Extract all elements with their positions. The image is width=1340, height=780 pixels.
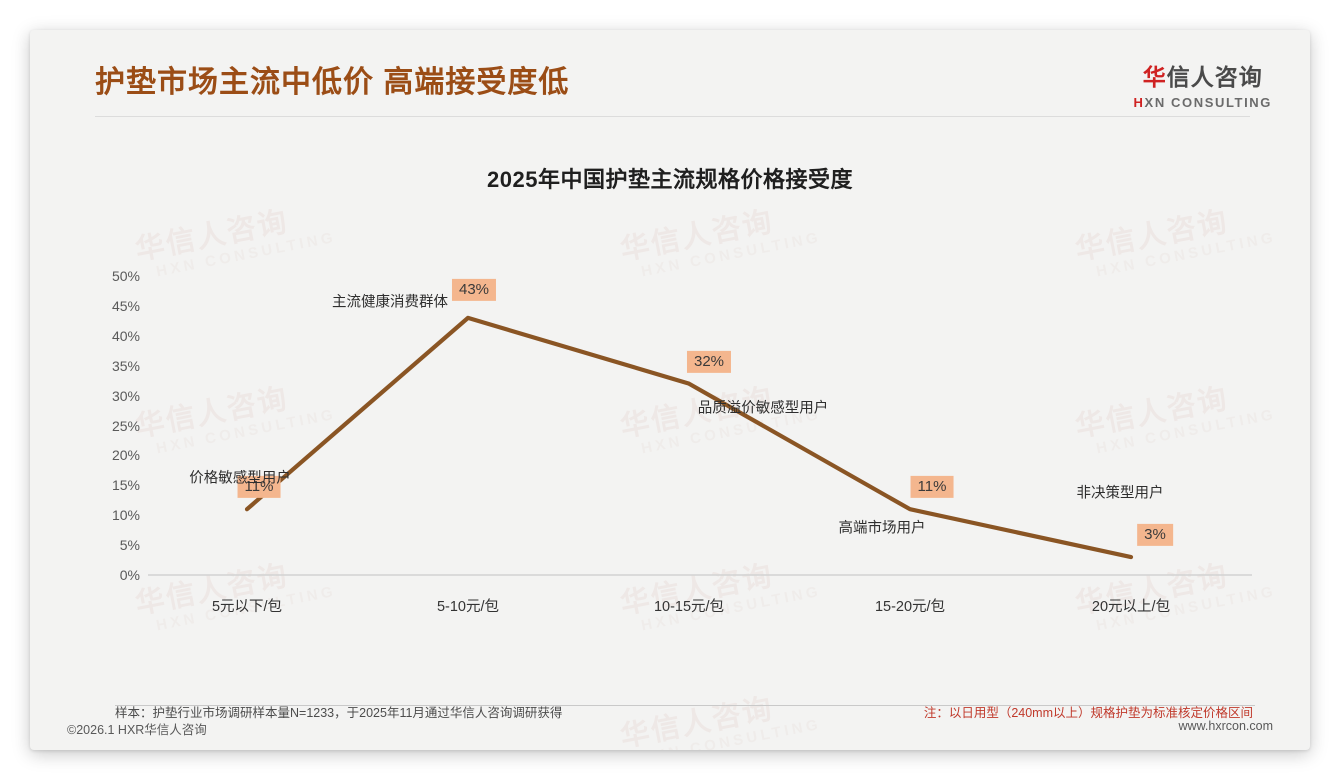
chart-annotation: 高端市场用户 (839, 517, 926, 538)
y-axis-tick: 50% (88, 268, 140, 284)
y-axis-tick: 25% (88, 418, 140, 434)
chart-svg (30, 30, 1310, 750)
brand-logo: 华信人咨询 HXN CONSULTING (1134, 58, 1272, 110)
data-label: 11% (911, 476, 954, 498)
data-label: 43% (452, 279, 496, 301)
chart-annotation: 主流健康消费群体 (332, 291, 448, 312)
y-axis-tick: 0% (88, 567, 140, 583)
logo-cn-rest: 信人咨询 (1167, 64, 1263, 90)
logo-en-red: H (1134, 95, 1145, 110)
website-link[interactable]: www.hxrcon.com (1179, 719, 1273, 733)
x-axis-tick: 15-20元/包 (875, 595, 945, 616)
chart-annotation: 非决策型用户 (1077, 482, 1164, 503)
logo-en-rest: XN CONSULTING (1145, 95, 1272, 110)
logo-en-text: HXN CONSULTING (1134, 95, 1272, 110)
data-label: 32% (687, 351, 731, 373)
chart-title: 2025年中国护垫主流规格价格接受度 (30, 162, 1310, 194)
y-axis-tick: 10% (88, 507, 140, 523)
data-label: 3% (1137, 524, 1173, 546)
chart-annotation: 品质溢价敏感型用户 (698, 397, 829, 418)
y-axis-tick: 45% (88, 298, 140, 314)
y-axis-tick: 35% (88, 358, 140, 374)
chart-annotation: 价格敏感型用户 (189, 467, 291, 488)
bottom-bar: ©2026.1 HXR华信人咨询 www.hxrcon.com (30, 706, 1310, 750)
y-axis-tick: 5% (88, 537, 140, 553)
x-axis-tick: 5-10元/包 (437, 595, 499, 616)
logo-cn-red: 华 (1143, 64, 1167, 90)
header-divider (95, 116, 1250, 117)
copyright-text: ©2026.1 HXR华信人咨询 (67, 719, 207, 738)
slide-header: 护垫市场主流中低价 高端接受度低 华信人咨询 HXN CONSULTING (30, 30, 1310, 120)
slide-card: 华信人咨询 HXN CONSULTING 华信人咨询 HXN CONSULTIN… (30, 30, 1310, 750)
y-axis-tick: 30% (88, 388, 140, 404)
x-axis-tick: 10-15元/包 (654, 595, 724, 616)
logo-cn-text: 华信人咨询 (1134, 58, 1272, 92)
y-axis-tick: 40% (88, 328, 140, 344)
chart-area: 50%45%40%35%30%25%20%15%10%5%0% 5元以下/包5-… (30, 30, 1310, 750)
y-axis-tick: 20% (88, 447, 140, 463)
y-axis-tick: 15% (88, 477, 140, 493)
x-axis-tick: 5元以下/包 (212, 595, 282, 616)
page-title: 护垫市场主流中低价 高端接受度低 (95, 57, 569, 101)
x-axis-tick: 20元以上/包 (1092, 595, 1170, 616)
